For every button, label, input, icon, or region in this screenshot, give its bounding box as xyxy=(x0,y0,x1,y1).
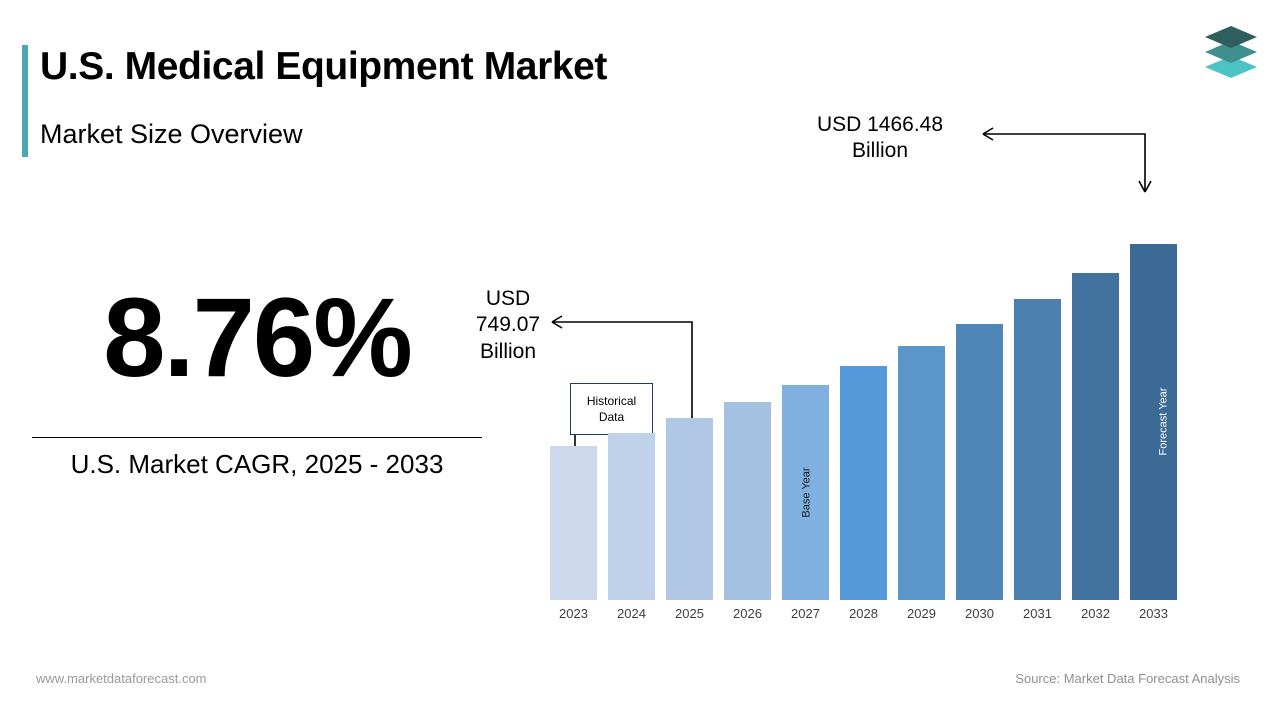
bar-2025[interactable] xyxy=(666,418,713,600)
x-axis-label-2025: 2025 xyxy=(666,606,713,621)
x-axis-label-2031: 2031 xyxy=(1014,606,1061,621)
x-axis-label-2030: 2030 xyxy=(956,606,1003,621)
infographic-page: U.S. Medical Equipment Market Market Siz… xyxy=(0,0,1280,720)
bar-2023[interactable] xyxy=(550,446,597,600)
x-axis-label-2023: 2023 xyxy=(550,606,597,621)
footer-website[interactable]: www.marketdataforecast.com xyxy=(36,671,207,686)
bar-slot xyxy=(1072,200,1119,600)
cagr-value: 8.76% xyxy=(32,282,482,394)
page-title: U.S. Medical Equipment Market xyxy=(40,46,607,89)
bar-2028[interactable] xyxy=(840,366,887,600)
x-axis-label-2024: 2024 xyxy=(608,606,655,621)
market-size-bar-chart: Base YearForecast Year 20232024202520262… xyxy=(540,200,1180,630)
page-subtitle: Market Size Overview xyxy=(40,118,303,150)
arrow-2033-path xyxy=(983,134,1145,192)
bar-slot: Base Year xyxy=(782,200,829,600)
x-axis-label-2032: 2032 xyxy=(1072,606,1119,621)
bar-slot xyxy=(666,200,713,600)
x-axis-label-2027: 2027 xyxy=(782,606,829,621)
x-axis-label-2028: 2028 xyxy=(840,606,887,621)
bar-slot xyxy=(840,200,887,600)
x-axis-label-2026: 2026 xyxy=(724,606,771,621)
bar-2027[interactable]: Base Year xyxy=(782,385,829,600)
bar-slot xyxy=(898,200,945,600)
bar-2026[interactable] xyxy=(724,402,771,600)
bar-slot xyxy=(956,200,1003,600)
bar-slot xyxy=(550,200,597,600)
bar-inner-label-2027: Base Year xyxy=(782,487,829,498)
cagr-label: U.S. Market CAGR, 2025 - 2033 xyxy=(32,444,482,484)
footer-source: Source: Market Data Forecast Analysis xyxy=(1015,671,1240,686)
bar-inner-label-2033: Forecast Year xyxy=(1130,416,1177,427)
bar-slot: Forecast Year xyxy=(1130,200,1177,600)
bar-2024[interactable] xyxy=(608,433,655,600)
forecast-value-callout: USD 1466.48 Billion xyxy=(790,112,970,165)
bar-2031[interactable] xyxy=(1014,299,1061,600)
arrow-2033-head-left xyxy=(983,128,993,140)
x-axis-label-2029: 2029 xyxy=(898,606,945,621)
arrow-2033-head-down xyxy=(1139,181,1151,192)
bar-2029[interactable] xyxy=(898,346,945,600)
x-axis-label-2033: 2033 xyxy=(1130,606,1177,621)
title-accent-bar xyxy=(22,45,28,157)
bar-slot xyxy=(724,200,771,600)
bar-2033[interactable]: Forecast Year xyxy=(1130,244,1177,600)
stacked-layers-logo xyxy=(1200,22,1262,82)
bar-2030[interactable] xyxy=(956,324,1003,600)
bar-group: Base YearForecast Year xyxy=(540,200,1180,600)
bar-slot xyxy=(1014,200,1061,600)
bar-2032[interactable] xyxy=(1072,273,1119,600)
cagr-divider xyxy=(32,437,482,438)
bar-slot xyxy=(608,200,655,600)
